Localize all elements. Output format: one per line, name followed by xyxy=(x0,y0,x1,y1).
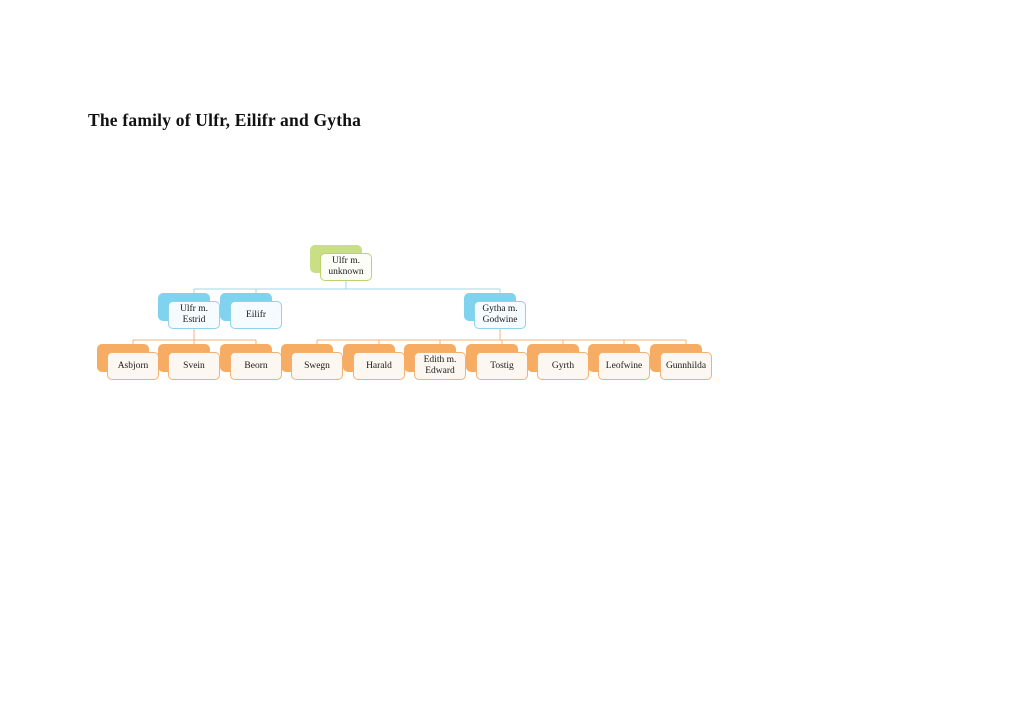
tree-node-label: Gyrth xyxy=(549,361,577,372)
tree-node-label: Eilifr xyxy=(243,310,269,321)
tree-node-box: Beorn xyxy=(230,352,282,380)
tree-node-box: Leofwine xyxy=(598,352,650,380)
tree-node-box: Eilifr xyxy=(230,301,282,329)
tree-node-gyrth[interactable]: Gyrth xyxy=(527,344,579,372)
tree-node-tostig[interactable]: Tostig xyxy=(466,344,518,372)
tree-node-label: Svein xyxy=(180,361,208,372)
tree-node-label: Swegn xyxy=(301,361,333,372)
tree-node-swegn[interactable]: Swegn xyxy=(281,344,333,372)
tree-node-label: Edith m. Edward xyxy=(421,355,460,377)
tree-node-label: Ulfr m. unknown xyxy=(325,256,366,278)
tree-node-gunnhilda[interactable]: Gunnhilda xyxy=(650,344,702,372)
tree-node-box: Svein xyxy=(168,352,220,380)
tree-node-box: Harald xyxy=(353,352,405,380)
tree-node-label: Gytha m. Godwine xyxy=(479,304,520,326)
tree-node-asbjorn[interactable]: Asbjorn xyxy=(97,344,149,372)
tree-node-box: Ulfr m. Estrid xyxy=(168,301,220,329)
tree-node-ulfr-estrid[interactable]: Ulfr m. Estrid xyxy=(158,293,210,321)
tree-node-box: Ulfr m. unknown xyxy=(320,253,372,281)
tree-node-box: Gyrth xyxy=(537,352,589,380)
tree-node-label: Tostig xyxy=(487,361,517,372)
tree-node-eilifr[interactable]: Eilifr xyxy=(220,293,272,321)
tree-node-beorn[interactable]: Beorn xyxy=(220,344,272,372)
tree-node-svein[interactable]: Svein xyxy=(158,344,210,372)
tree-node-leofwine[interactable]: Leofwine xyxy=(588,344,640,372)
tree-node-label: Harald xyxy=(363,361,395,372)
tree-node-box: Swegn xyxy=(291,352,343,380)
tree-node-box: Asbjorn xyxy=(107,352,159,380)
tree-node-box: Edith m. Edward xyxy=(414,352,466,380)
tree-node-label: Leofwine xyxy=(603,361,645,372)
family-tree-diagram: Ulfr m. unknownUlfr m. EstridEilifrGytha… xyxy=(0,0,1024,724)
tree-node-label: Asbjorn xyxy=(115,361,152,372)
tree-node-label: Ulfr m. Estrid xyxy=(177,304,211,326)
tree-node-gytha-godwine[interactable]: Gytha m. Godwine xyxy=(464,293,516,321)
tree-node-box: Tostig xyxy=(476,352,528,380)
tree-node-label: Gunnhilda xyxy=(663,361,709,372)
tree-node-edith-edward[interactable]: Edith m. Edward xyxy=(404,344,456,372)
tree-node-ulfr-unknown[interactable]: Ulfr m. unknown xyxy=(310,245,362,273)
tree-node-label: Beorn xyxy=(241,361,270,372)
tree-node-box: Gytha m. Godwine xyxy=(474,301,526,329)
tree-node-harald[interactable]: Harald xyxy=(343,344,395,372)
tree-node-box: Gunnhilda xyxy=(660,352,712,380)
